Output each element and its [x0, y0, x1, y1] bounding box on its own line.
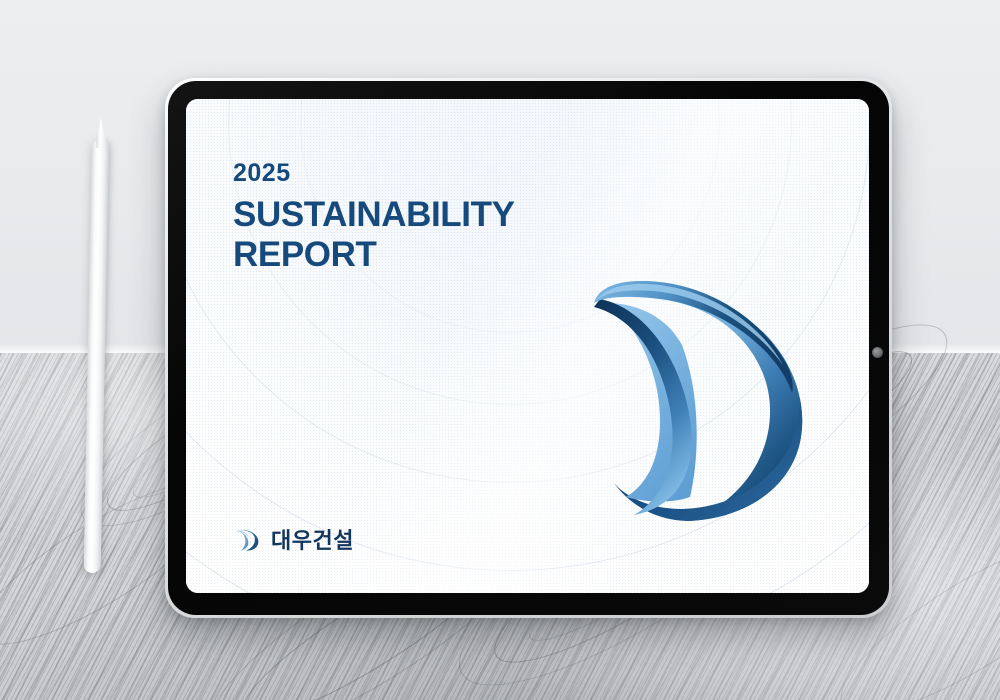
tablet-bezel: 2025 SUSTAINABILITY REPORT — [168, 81, 889, 615]
tablet-device: 2025 SUSTAINABILITY REPORT — [165, 78, 892, 618]
report-cover-page: 2025 SUSTAINABILITY REPORT — [186, 99, 869, 593]
daewoo-d-ribbon-icon — [564, 259, 824, 529]
cover-title-block: 2025 SUSTAINABILITY REPORT — [233, 161, 515, 275]
report-year: 2025 — [233, 161, 515, 186]
camera-dot-icon — [872, 347, 883, 358]
headline-line-1: SUSTAINABILITY — [233, 195, 515, 234]
scene: 2025 SUSTAINABILITY REPORT — [0, 0, 1000, 700]
tablet-screen[interactable]: 2025 SUSTAINABILITY REPORT — [186, 99, 869, 593]
brand-name: 대우건설 — [271, 523, 354, 555]
headline-line-2: REPORT — [233, 235, 515, 275]
page-title: SUSTAINABILITY REPORT — [233, 195, 515, 275]
brand-lockup: 대우건설 — [233, 523, 354, 555]
stylus-tip — [95, 118, 106, 148]
daewoo-logo-icon — [233, 525, 262, 554]
